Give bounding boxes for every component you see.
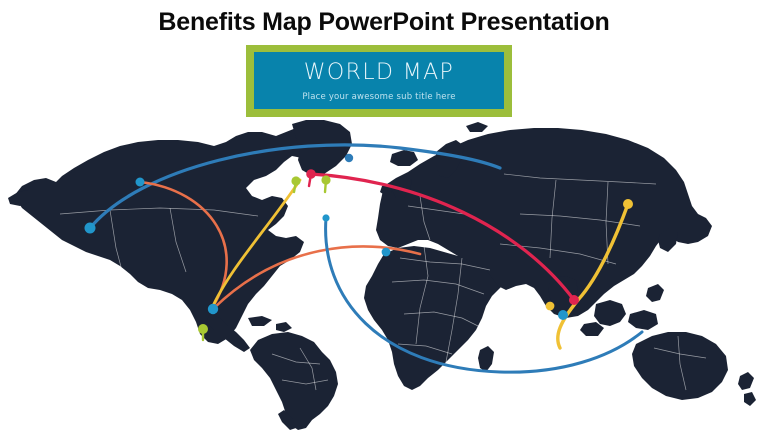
node-brazil-coast[interactable]	[208, 304, 218, 314]
node-scandinavia[interactable]	[345, 154, 353, 162]
world-map-banner: WORLD MAP Place your awesome sub title h…	[246, 45, 512, 117]
continent-south-america	[250, 332, 338, 430]
islands-misc	[466, 122, 488, 132]
continents-layer	[8, 120, 756, 430]
presentation-slide: Benefits Map PowerPoint Presentation WOR…	[0, 0, 768, 432]
node-arabia[interactable]	[382, 248, 391, 257]
continent-iceland	[390, 150, 418, 166]
world-map-svg	[0, 118, 768, 432]
continent-australia	[632, 332, 728, 400]
banner-subtitle: Place your awesome sub title here	[254, 92, 504, 102]
node-mediterranean[interactable]	[322, 214, 329, 221]
node-canada[interactable]	[136, 178, 145, 187]
banner-title: WORLD MAP	[254, 60, 504, 85]
pin-stem-central-europe	[325, 180, 326, 192]
node-indonesia[interactable]	[569, 295, 579, 305]
node-north-australia[interactable]	[558, 310, 568, 320]
node-siberia[interactable]	[623, 199, 633, 209]
continent-north-america	[14, 126, 330, 344]
island-new-zealand	[738, 372, 756, 406]
node-timor[interactable]	[546, 302, 555, 311]
islands-caribbean	[248, 316, 292, 332]
region-philippines	[646, 284, 664, 302]
world-map-graphic	[0, 118, 768, 432]
node-united-states[interactable]	[85, 223, 96, 234]
banner-inner-panel: WORLD MAP Place your awesome sub title h…	[254, 52, 504, 109]
page-title: Benefits Map PowerPoint Presentation	[0, 8, 768, 37]
island-madagascar	[478, 346, 494, 372]
